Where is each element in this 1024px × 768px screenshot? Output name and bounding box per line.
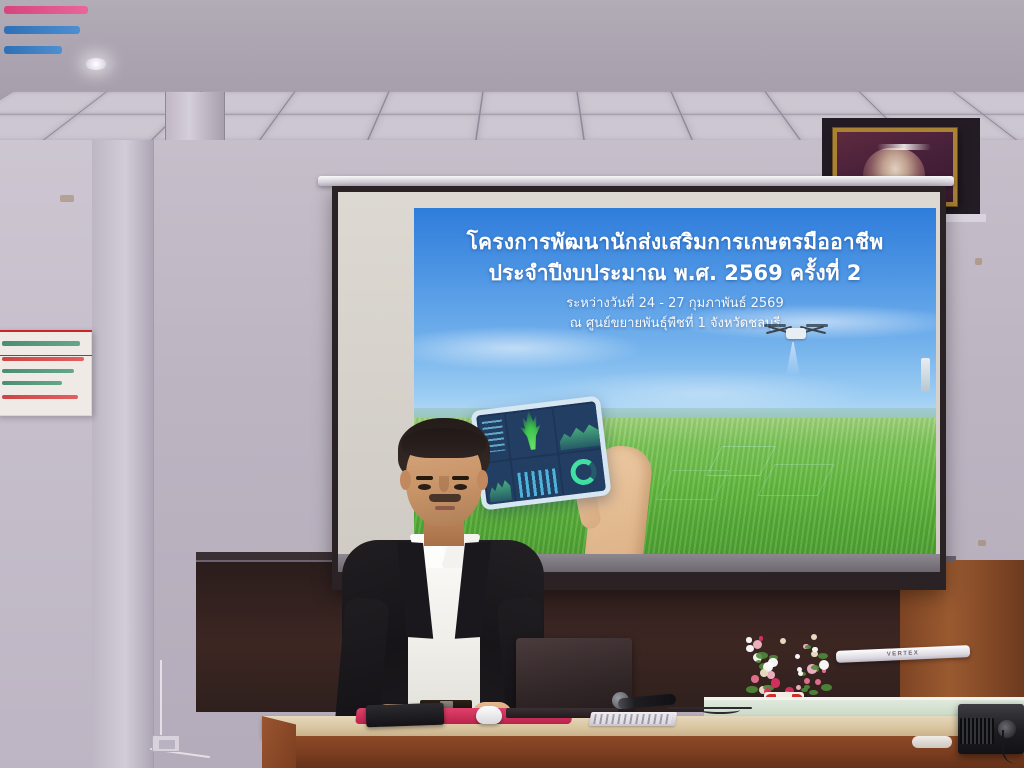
flower-petal — [746, 645, 754, 653]
mouth — [435, 506, 455, 510]
wall-smudge — [978, 540, 986, 546]
slide-subtitle-line1: ระหว่างวันที่ 24 - 27 กุมภาพันธ์ 2569 — [414, 292, 936, 313]
smartphone[interactable] — [366, 703, 445, 728]
foliage — [804, 685, 810, 689]
wall-column — [92, 140, 154, 768]
ceiling-downlight — [85, 58, 107, 70]
microphone-cord — [700, 706, 740, 714]
dashboard-panel — [554, 403, 603, 453]
projector-vent — [960, 718, 994, 744]
flower-petal — [753, 640, 762, 649]
foliage — [746, 686, 757, 693]
ear-left — [400, 470, 411, 490]
field-marker-post — [921, 358, 930, 392]
drone-graphic — [766, 320, 826, 346]
projector-mount-plate — [912, 736, 952, 748]
flower-petal — [795, 654, 800, 659]
computer-mouse[interactable] — [476, 706, 502, 724]
board-rail — [196, 552, 346, 560]
foliage — [821, 684, 832, 691]
flower-petal — [780, 638, 786, 644]
nose — [439, 476, 449, 492]
poster-rule — [0, 330, 92, 332]
flower-petal — [796, 685, 801, 690]
documents-stack[interactable] — [589, 712, 677, 726]
vertex-brand-label: VERTEX — [887, 650, 920, 657]
mustache — [429, 494, 461, 502]
poster-rule — [0, 355, 92, 356]
dashboard-panel — [559, 449, 608, 495]
slide-subtitle-line2: ณ ศูนย์ขยายพันธุ์พืชที่ 1 จังหวัดชลบุรี — [414, 312, 936, 333]
flower-petal — [804, 678, 810, 684]
flower-petal — [819, 660, 829, 670]
hair-front — [402, 428, 486, 458]
ceiling-tile — [577, 91, 681, 114]
left-wall — [0, 140, 94, 768]
wall-smudge — [60, 195, 74, 202]
slide-title-line1: โครงการพัฒนานักส่งเสริมการเกษตรมืออาชีพ — [414, 226, 936, 259]
foliage — [756, 652, 768, 659]
wall-poster-top — [0, 330, 92, 416]
power-cord — [160, 660, 162, 738]
slide-title-line2: ประจำปีงบประมาณ พ.ศ. 2569 ครั้งที่ 2 — [414, 257, 936, 290]
desk-left-edge — [262, 716, 296, 768]
flower-petal — [811, 634, 817, 640]
ceiling-tile — [480, 91, 581, 114]
flower-petal — [751, 675, 759, 683]
portrait-glare — [877, 144, 931, 150]
flower-petal — [815, 679, 821, 685]
desk-front-panel — [262, 736, 1024, 768]
foliage — [756, 660, 761, 663]
drone-spray — [786, 342, 800, 376]
ceiling-tile — [580, 114, 692, 140]
ceiling-tile — [368, 114, 480, 140]
wall-outlet[interactable] — [152, 735, 180, 752]
flower-petal — [759, 636, 764, 641]
ear-right — [477, 470, 488, 490]
flower-petal — [760, 669, 768, 677]
ceiling-tile — [681, 114, 801, 140]
foliage — [805, 645, 811, 649]
flower-petal — [798, 671, 803, 676]
flower-petal — [771, 678, 780, 687]
projector-cable — [1002, 730, 1024, 764]
ceiling-tile — [259, 114, 379, 140]
ceiling-tile — [379, 91, 483, 114]
screen-roller-bar — [318, 176, 954, 186]
ceiling-tile — [671, 91, 782, 114]
flower-bouquet — [740, 628, 830, 700]
flower-petal — [768, 658, 778, 668]
foliage — [809, 690, 818, 695]
ceiling-tile — [278, 91, 389, 114]
foliage — [818, 653, 828, 659]
ceiling-tile — [476, 114, 584, 140]
presentation-room-photo: โครงการพัฒนานักส่งเสริมการเกษตรมืออาชีพ … — [0, 0, 1024, 768]
flower-petal — [746, 637, 751, 642]
wall-smudge — [975, 258, 982, 265]
